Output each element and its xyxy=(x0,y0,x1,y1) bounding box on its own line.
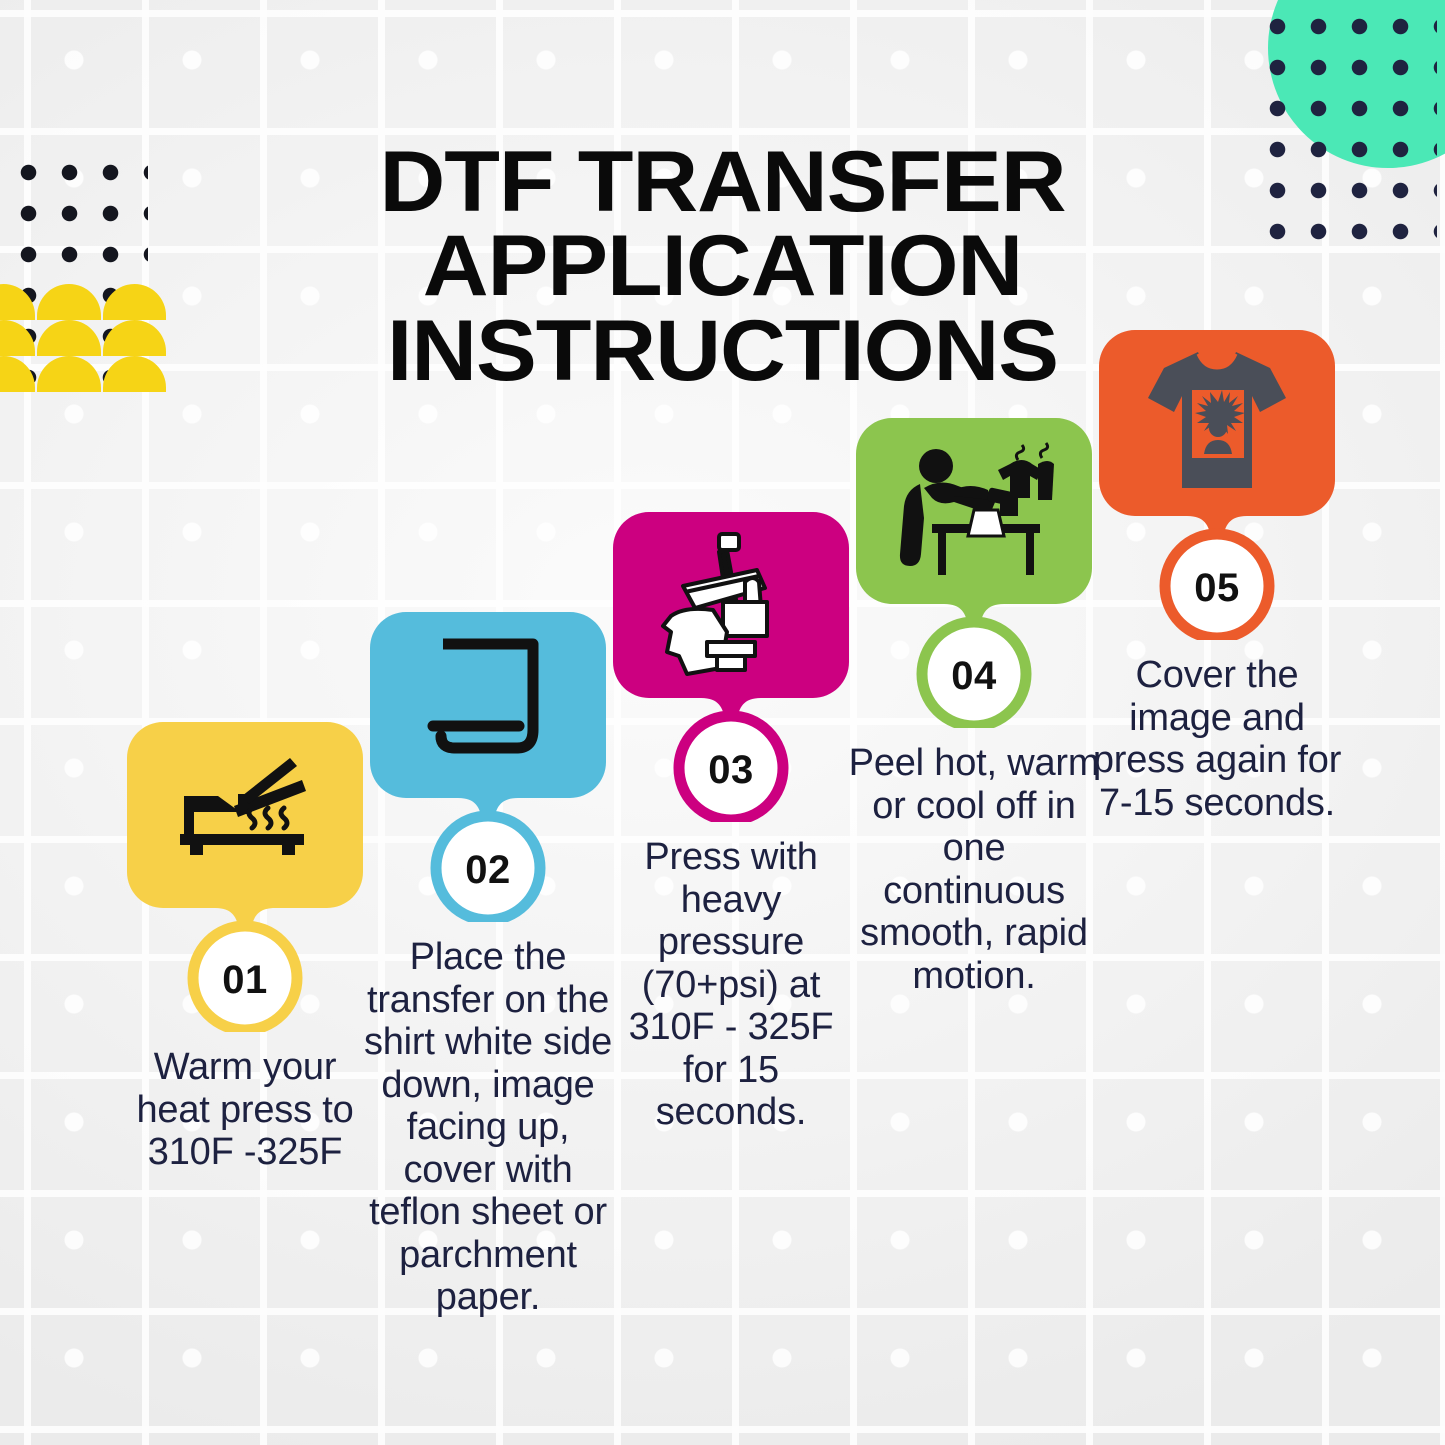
step-pin-02: 02 xyxy=(368,612,608,922)
person-pressing-shirt-icon xyxy=(854,440,1094,580)
step-number-05: 05 xyxy=(1097,566,1337,611)
step-pin-01: 01 xyxy=(125,722,365,1032)
printed-tshirt-icon xyxy=(1097,346,1337,494)
step-caption-04: Peel hot, warm or cool off in one contin… xyxy=(848,742,1100,997)
step-number-04: 04 xyxy=(854,654,1094,699)
heat-press-icon xyxy=(125,756,365,864)
step-caption-01: Warm your heat press to 310F -325F xyxy=(119,1046,371,1174)
step-item-05: 05 Cover the image and press again for 7… xyxy=(1092,330,1342,824)
step-number-02: 02 xyxy=(368,848,608,893)
step-pin-03: 03 xyxy=(611,512,851,822)
step-item-03: 03 Press with heavy pressure (70+psi) at… xyxy=(606,512,856,1134)
step-caption-05: Cover the image and press again for 7-15… xyxy=(1091,654,1343,824)
step-caption-02: Place the transfer on the shirt white si… xyxy=(362,936,614,1319)
step-item-01: 01 Warm your heat press to 310F -325F xyxy=(120,722,370,1174)
step-number-01: 01 xyxy=(125,958,365,1003)
heat-press-machine-icon xyxy=(611,530,851,680)
step-pin-05: 05 xyxy=(1097,330,1337,640)
step-item-04: 04 Peel hot, warm or cool off in one con… xyxy=(849,418,1099,997)
step-item-02: 02 Place the transfer on the shirt white… xyxy=(363,612,613,1319)
step-caption-03: Press with heavy pressure (70+psi) at 31… xyxy=(605,836,857,1134)
transfer-sheet-icon xyxy=(368,638,608,762)
step-number-03: 03 xyxy=(611,748,851,793)
steps-container: 01 Warm your heat press to 310F -325F xyxy=(0,0,1445,1445)
infographic-canvas: DTF TRANSFER APPLICATION INSTRUCTIONS xyxy=(0,0,1445,1445)
step-pin-04: 04 xyxy=(854,418,1094,728)
